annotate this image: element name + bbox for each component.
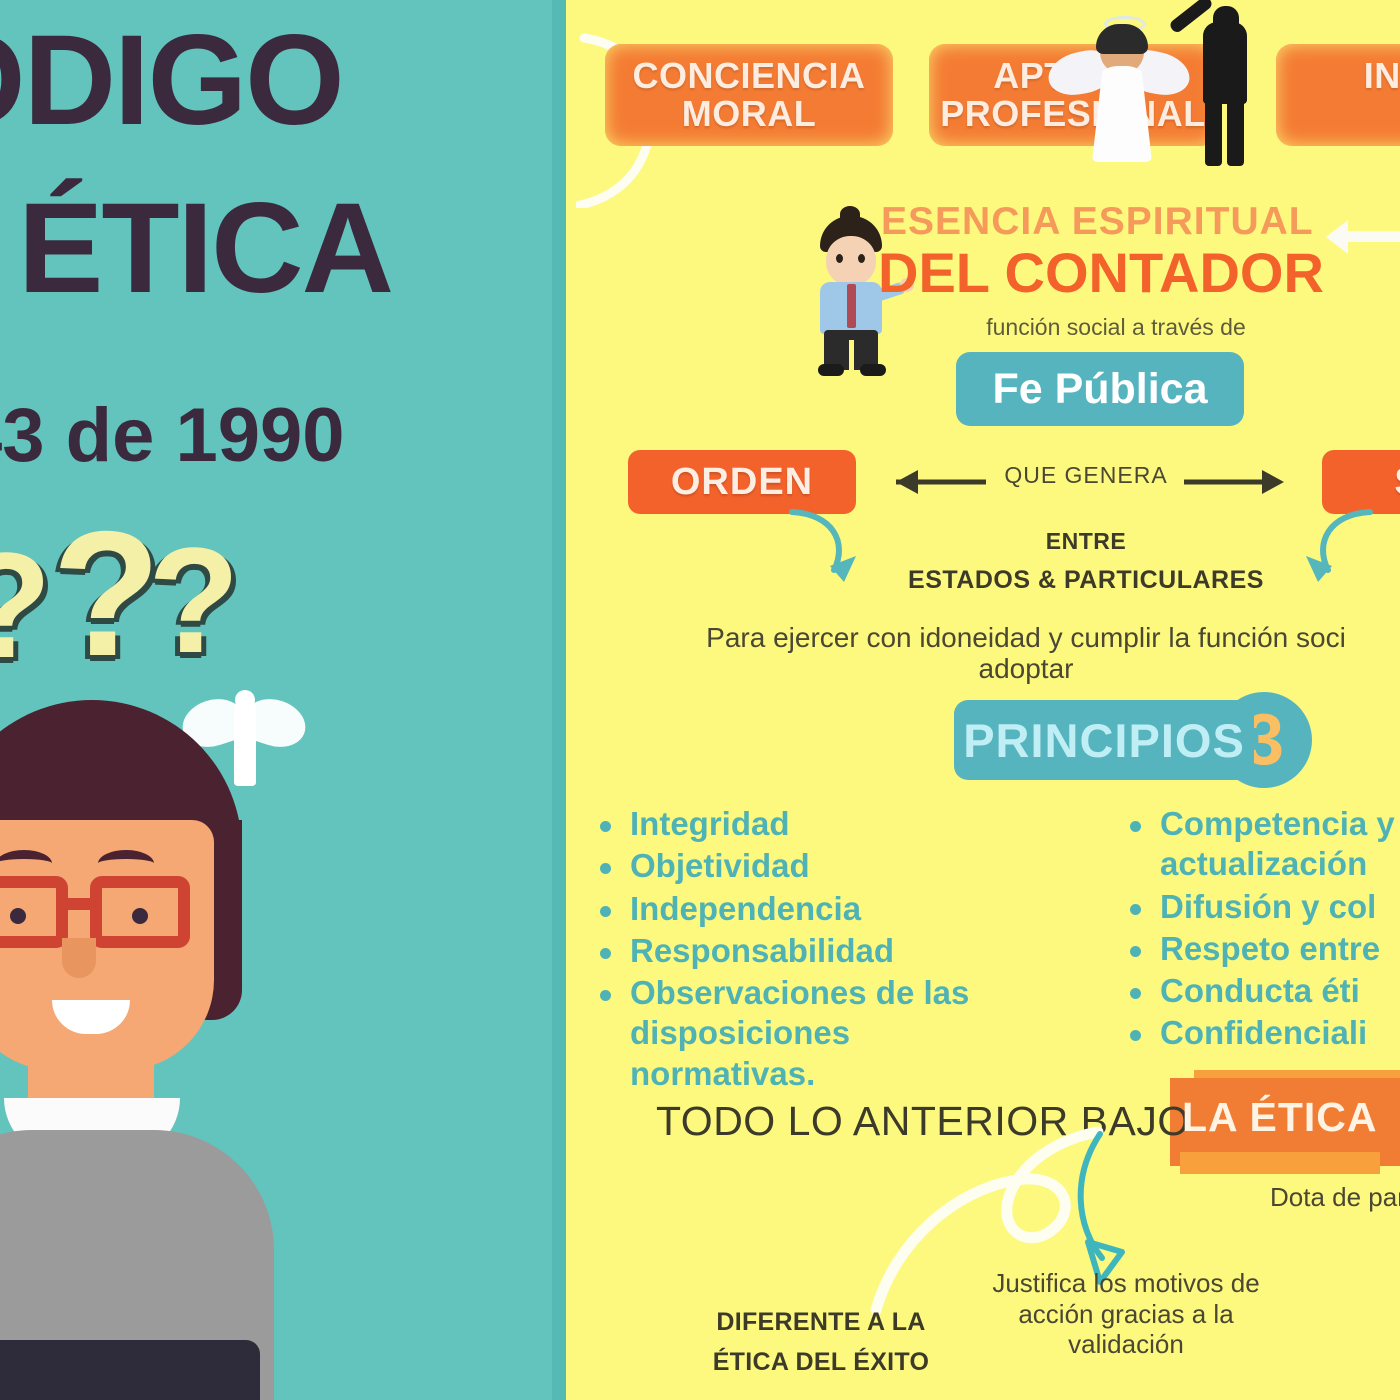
concept-box-line1: INDEP xyxy=(1364,55,1400,96)
list-item: Confidenciali xyxy=(1126,1013,1400,1053)
arrow-shaft xyxy=(1340,231,1400,242)
curved-arrow-icon-right xyxy=(1266,508,1376,618)
concept-box-principios[interactable]: PRINCIPIOS xyxy=(954,700,1254,780)
eyebrow-right xyxy=(98,850,154,877)
double-arrow-icon xyxy=(866,466,1316,500)
list-item: Conducta éti xyxy=(1126,971,1400,1011)
laptop-screen xyxy=(0,1340,260,1400)
page-subtitle-law: 43 de 1990 xyxy=(0,392,345,479)
section-heading-large: DEL CONTADOR xyxy=(878,240,1348,305)
question-mark-icon-1: ? xyxy=(0,530,52,680)
connector-label-entre: ENTRE xyxy=(896,528,1276,555)
page-title-line2: ÉTICA xyxy=(18,190,566,308)
section-subheading: función social a través de xyxy=(896,314,1336,341)
curved-arrow-icon-left xyxy=(786,508,896,618)
eye-right xyxy=(132,908,148,924)
closing-statement-highlight: LA ÉTICA xyxy=(1182,1094,1400,1141)
list-item: Respeto entre xyxy=(1126,929,1400,969)
concept-box-orden[interactable]: ORDEN xyxy=(628,450,856,514)
concept-box-conciencia-moral[interactable]: CONCIENCIA MORAL xyxy=(605,44,893,146)
nose-shape xyxy=(62,938,96,978)
page-title-line1: ÓDIGO xyxy=(0,22,486,140)
list-item: Observaciones de las disposiciones norma… xyxy=(596,973,1026,1094)
eye-left xyxy=(836,254,843,263)
infographic-canvas: ÓDIGO ÉTICA 43 de 1990 ? ? ? xyxy=(0,0,1400,1400)
note-dota: Dota de para u xyxy=(1256,1182,1400,1214)
arrow-head xyxy=(1326,220,1348,254)
note-diferente: DIFERENTE A LA ÉTICA DEL ÉXITO xyxy=(696,1302,946,1382)
list-item: Responsabilidad xyxy=(596,931,1026,971)
student-with-laptop-icon xyxy=(0,700,322,1400)
glasses-icon xyxy=(0,876,212,952)
principles-intro-line1: Para ejercer con idoneidad y cumplir la … xyxy=(706,622,1346,653)
note-diferente-line1: DIFERENTE A LA xyxy=(716,1308,925,1336)
left-title-panel: ÓDIGO ÉTICA 43 de 1990 ? ? ? xyxy=(0,0,566,1400)
concept-box-seguridad[interactable]: SEG xyxy=(1322,450,1400,514)
eye-left xyxy=(10,908,26,924)
arrow-left-white-icon xyxy=(1316,216,1400,256)
silhouette-leg-right xyxy=(1227,96,1244,166)
shoe-left xyxy=(818,364,844,376)
silhouette-torso xyxy=(1203,22,1247,104)
businessman-silhouette-icon xyxy=(1161,0,1291,170)
note-diferente-line2: ÉTICA DEL ÉXITO xyxy=(713,1348,930,1376)
main-content-panel: CONCIENCIA MORAL APTITUD PROFESIONAL IND… xyxy=(566,0,1400,1400)
concept-box-fe-publica[interactable]: Fe Pública xyxy=(956,352,1244,426)
highlight-stroke-bottom xyxy=(1180,1152,1380,1174)
list-item: Objetividad xyxy=(596,846,1026,886)
principles-intro-text: Para ejercer con idoneidad y cumplir la … xyxy=(626,622,1400,685)
face-shape xyxy=(826,236,876,286)
principles-intro-line2: adoptar xyxy=(979,653,1074,684)
angel-icon xyxy=(1056,8,1176,158)
principles-list-right: Competencia y actualización Difusión y c… xyxy=(1126,804,1400,1056)
note-justifica: Justifica los motivos de acción gracias … xyxy=(966,1268,1286,1360)
tie-shape xyxy=(847,284,856,328)
concept-box-line1: CONCIENCIA xyxy=(632,55,865,96)
glasses-bridge xyxy=(66,898,94,910)
concept-box-line2: MORAL xyxy=(682,93,816,134)
question-mark-icon-2: ? xyxy=(52,505,161,683)
question-mark-icon-3: ? xyxy=(148,525,240,675)
principles-list-left: Integridad Objetividad Independencia Res… xyxy=(596,804,1026,1096)
leg-split xyxy=(849,340,854,372)
silhouette-leg-left xyxy=(1205,96,1222,166)
list-item: Integridad xyxy=(596,804,1026,844)
eye-right xyxy=(858,254,865,263)
concept-box-independencia-mental[interactable]: INDEP M xyxy=(1276,44,1400,146)
list-item: Independencia xyxy=(596,889,1026,929)
section-heading-small: ESENCIA ESPIRITUAL xyxy=(881,200,1341,244)
list-item: Difusión y col xyxy=(1126,887,1400,927)
list-item: Competencia y actualización xyxy=(1126,804,1400,885)
shoe-right xyxy=(860,364,886,376)
connector-label-estados: ESTADOS & PARTICULARES xyxy=(856,566,1316,595)
